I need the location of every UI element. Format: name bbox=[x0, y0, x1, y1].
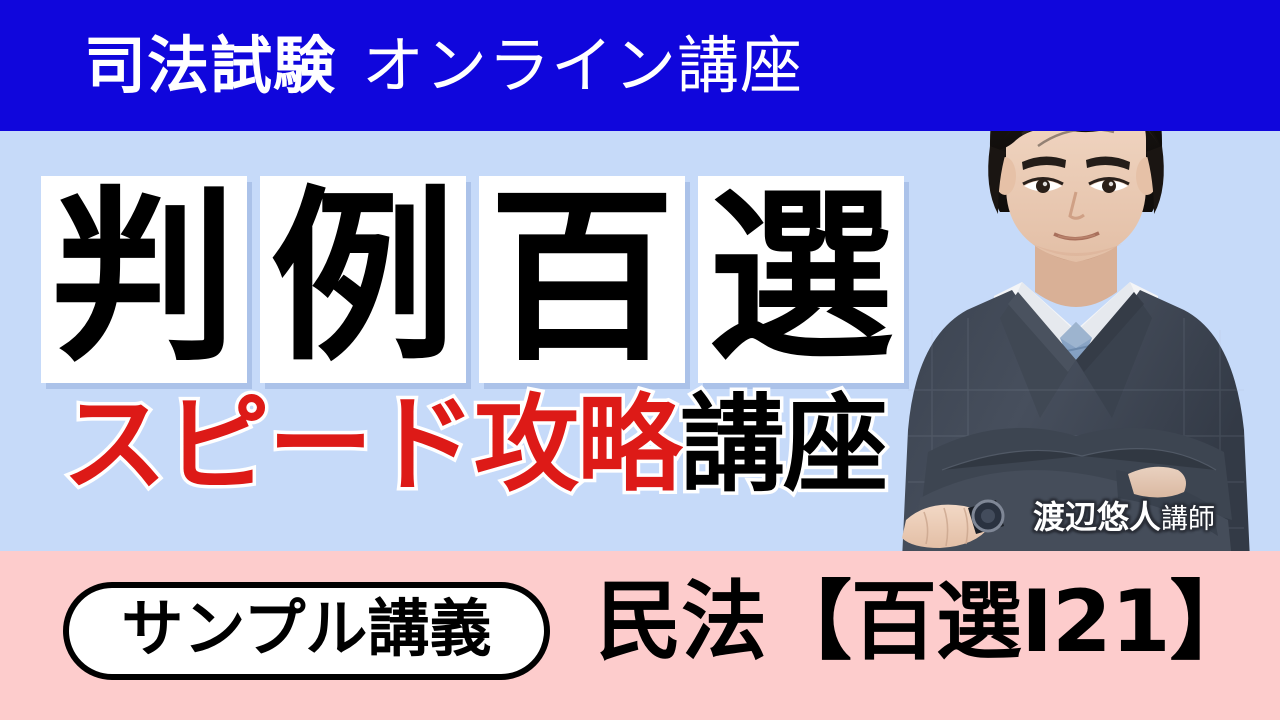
header-exam-label: 司法試験 bbox=[84, 29, 336, 102]
lecture-title: 民法【百選Ⅰ21】 bbox=[596, 579, 1255, 665]
instructor-title-text: 講師 bbox=[1161, 504, 1215, 535]
header-title: 司法試験オンライン講座 bbox=[84, 35, 803, 97]
video-thumbnail: 判 例 百 選 スピード攻略講座 bbox=[0, 0, 1280, 720]
headline-char-box: 判 bbox=[41, 176, 247, 383]
instructor-name-label: 渡辺悠人講師 bbox=[1033, 492, 1215, 538]
sample-lecture-badge: サンプル講義 bbox=[63, 582, 550, 680]
headline-char-box: 百 bbox=[479, 176, 685, 383]
subtitle-red-text: スピード攻略 bbox=[62, 384, 680, 506]
subtitle-black-text: 講座 bbox=[680, 384, 886, 506]
headline-char-glyph: 選 bbox=[708, 185, 894, 371]
header-course-label: オンライン講座 bbox=[362, 29, 803, 102]
sample-lecture-badge-label: サンプル講義 bbox=[121, 598, 491, 660]
header-bar: 司法試験オンライン講座 bbox=[0, 0, 1280, 131]
headline-char-glyph: 判 bbox=[51, 185, 237, 371]
instructor-name-text: 渡辺悠人 bbox=[1033, 498, 1161, 536]
headline-char-glyph: 例 bbox=[270, 185, 456, 371]
subtitle-line: スピード攻略講座 bbox=[62, 393, 886, 498]
headline-char-box: 例 bbox=[260, 176, 466, 383]
headline-char-glyph: 百 bbox=[489, 185, 675, 371]
headline-boxed-characters: 判 例 百 選 bbox=[41, 176, 904, 383]
